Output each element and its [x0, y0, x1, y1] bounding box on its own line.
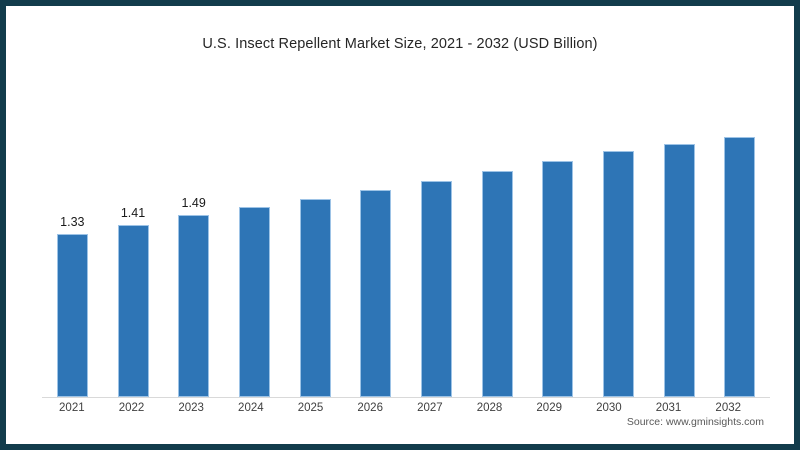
- x-tick-label: 2029: [519, 402, 579, 414]
- x-tick-label: 2031: [639, 402, 699, 414]
- bar-slot: .: [345, 106, 406, 397]
- bar-slot: 1.49: [163, 106, 224, 397]
- bar-value-label: 1.41: [121, 207, 145, 220]
- x-tick-label: 2032: [698, 402, 758, 414]
- x-tick-label: 2023: [161, 402, 221, 414]
- bar[interactable]: [239, 207, 270, 397]
- bar[interactable]: [300, 199, 331, 397]
- chart-figure: U.S. Insect Repellent Market Size, 2021 …: [0, 0, 800, 450]
- bar[interactable]: [178, 215, 209, 397]
- bar-value-label: 1.33: [60, 216, 84, 229]
- x-tick-label: 2030: [579, 402, 639, 414]
- bar[interactable]: [421, 181, 452, 397]
- bar[interactable]: [542, 161, 573, 397]
- bar-slot: .: [285, 106, 346, 397]
- bar-series: 1.331.411.49.........: [42, 106, 770, 397]
- x-tick-label: 2027: [400, 402, 460, 414]
- x-tick-label: 2024: [221, 402, 281, 414]
- bar-slot: .: [467, 106, 528, 397]
- bar[interactable]: [482, 171, 513, 397]
- bar-value-label: 1.49: [182, 197, 206, 210]
- chart-title: U.S. Insect Repellent Market Size, 2021 …: [6, 36, 794, 52]
- x-tick-label: 2025: [281, 402, 341, 414]
- x-tick-label: 2022: [102, 402, 162, 414]
- bar-slot: .: [649, 106, 710, 397]
- x-tick-label: 2021: [42, 402, 102, 414]
- bar-slot: .: [527, 106, 588, 397]
- bar[interactable]: [57, 234, 88, 397]
- x-tick-label: 2028: [460, 402, 520, 414]
- x-axis-labels: 2021202220232024202520262027202820292030…: [42, 402, 758, 414]
- bar[interactable]: [724, 137, 755, 397]
- x-tick-label: 2026: [340, 402, 400, 414]
- bar-slot: .: [406, 106, 467, 397]
- bar-slot: .: [709, 106, 770, 397]
- bar-slot: 1.33: [42, 106, 103, 397]
- bar[interactable]: [664, 144, 695, 397]
- bar-slot: 1.41: [103, 106, 164, 397]
- bar[interactable]: [360, 190, 391, 397]
- bar[interactable]: [118, 225, 149, 397]
- bar[interactable]: [603, 151, 634, 397]
- bar-slot: .: [224, 106, 285, 397]
- x-axis-line: [42, 397, 770, 398]
- source-attribution: Source: www.gminsights.com: [627, 416, 764, 428]
- bar-slot: .: [588, 106, 649, 397]
- plot-area: 1.331.411.49.........: [42, 106, 770, 398]
